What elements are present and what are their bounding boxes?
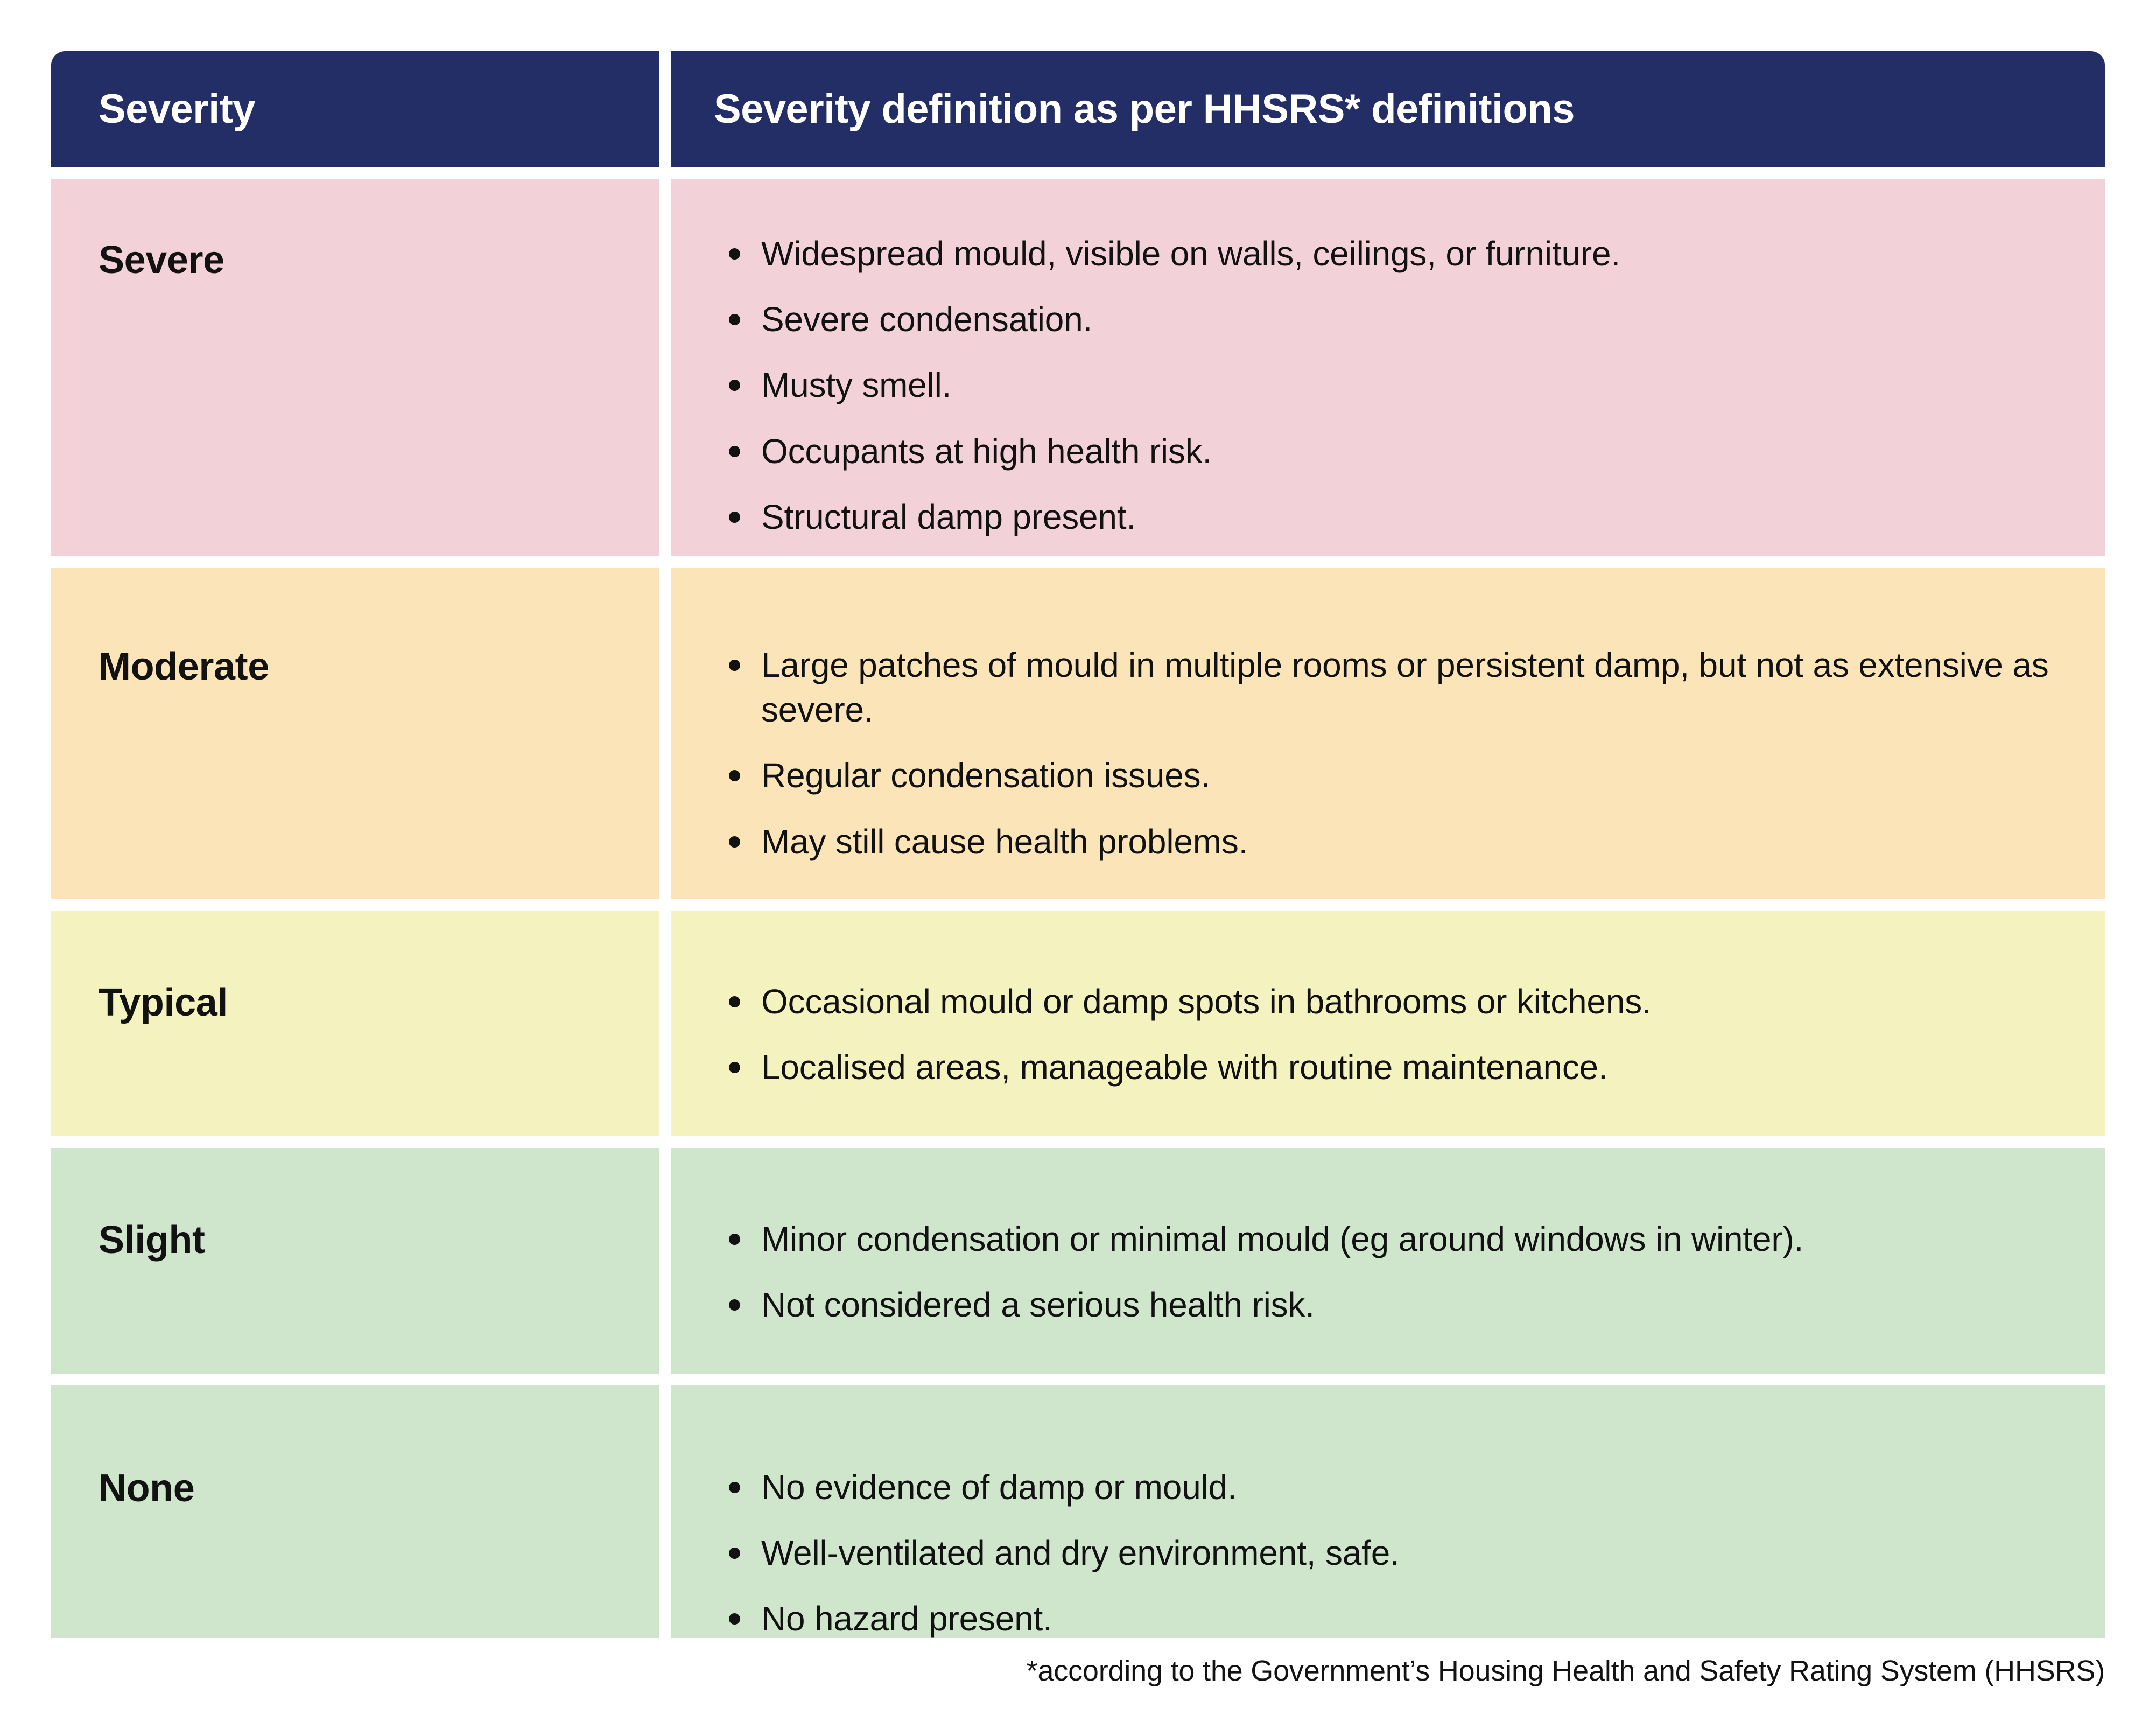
definition-text: Occupants at high health risk.	[761, 429, 2105, 474]
table-row-typical: Typical Occasional mould or damp spots i…	[51, 911, 2105, 1136]
list-item: Regular condensation issues.	[714, 753, 2105, 798]
definition-text: Large patches of mould in multiple rooms…	[761, 643, 2105, 732]
definition-text: Regular condensation issues.	[761, 753, 2105, 798]
table-row-slight: Slight Minor condensation or minimal mou…	[51, 1148, 2105, 1374]
bullet-icon	[729, 1482, 740, 1493]
definition-cell-none: No evidence of damp or mould. Well-venti…	[671, 1385, 2105, 1638]
header-cell-severity: Severity	[51, 51, 659, 167]
severity-label-slight: Slight	[51, 1221, 659, 1259]
list-item: Structural damp present.	[714, 495, 2105, 540]
column-gap	[659, 568, 671, 899]
bullet-icon	[729, 1299, 740, 1311]
definition-text: No evidence of damp or mould.	[761, 1465, 2105, 1510]
column-gap	[659, 179, 671, 556]
list-item: Large patches of mould in multiple rooms…	[714, 643, 2105, 732]
severity-label-severe: Severe	[51, 241, 659, 279]
column-gap	[659, 911, 671, 1136]
list-item: No evidence of damp or mould.	[714, 1465, 2105, 1510]
definition-cell-severe: Widespread mould, visible on walls, ceil…	[671, 179, 2105, 556]
severity-label-typical: Typical	[51, 983, 659, 1022]
list-item: Musty smell.	[714, 363, 2105, 408]
bullet-icon	[729, 512, 740, 523]
severity-cell-typical: Typical	[51, 911, 659, 1136]
footnote-hhsrs: *according to the Government’s Housing H…	[1027, 1654, 2105, 1688]
bullet-icon	[729, 1613, 740, 1625]
severity-cell-none: None	[51, 1385, 659, 1638]
definition-cell-typical: Occasional mould or damp spots in bathro…	[671, 911, 2105, 1136]
list-item: Widespread mould, visible on walls, ceil…	[714, 232, 2105, 276]
bullet-icon	[729, 314, 740, 325]
definition-text: Occasional mould or damp spots in bathro…	[761, 979, 2105, 1024]
definition-list-none: No evidence of damp or mould. Well-venti…	[714, 1465, 2105, 1642]
definition-list-moderate: Large patches of mould in multiple rooms…	[714, 643, 2105, 864]
definition-list-severe: Widespread mould, visible on walls, ceil…	[714, 232, 2105, 540]
table-row-severe: Severe Widespread mould, visible on wall…	[51, 179, 2105, 556]
bullet-icon	[729, 836, 740, 848]
list-item: No hazard present.	[714, 1597, 2105, 1641]
definition-text: May still cause health problems.	[761, 820, 2105, 864]
list-item: Well-ventilated and dry environment, saf…	[714, 1531, 2105, 1576]
bullet-icon	[729, 1548, 740, 1559]
definition-text: No hazard present.	[761, 1597, 2105, 1641]
definition-list-typical: Occasional mould or damp spots in bathro…	[714, 979, 2105, 1090]
severity-label-moderate: Moderate	[51, 647, 659, 686]
bullet-icon	[729, 1062, 740, 1073]
list-item: Not considered a serious health risk.	[714, 1283, 2105, 1327]
definition-text: Not considered a serious health risk.	[761, 1283, 2105, 1327]
table-row-none: None No evidence of damp or mould. Well-…	[51, 1385, 2105, 1638]
table-row-moderate: Moderate Large patches of mould in multi…	[51, 568, 2105, 899]
definition-text: Severe condensation.	[761, 297, 2105, 342]
definition-list-slight: Minor condensation or minimal mould (eg …	[714, 1217, 2105, 1327]
bullet-icon	[729, 1234, 740, 1245]
bullet-icon	[729, 770, 740, 781]
severity-cell-moderate: Moderate	[51, 568, 659, 899]
definition-text: Widespread mould, visible on walls, ceil…	[761, 232, 2105, 276]
severity-label-none: None	[51, 1469, 659, 1508]
header-label-definition: Severity definition as per HHSRS* defini…	[671, 88, 1575, 131]
severity-cell-slight: Slight	[51, 1148, 659, 1374]
definition-text: Musty smell.	[761, 363, 2105, 408]
bullet-icon	[729, 660, 740, 671]
severity-definitions-table: Severity Severity definition as per HHSR…	[51, 51, 2105, 1638]
definition-text: Structural damp present.	[761, 495, 2105, 540]
definition-cell-slight: Minor condensation or minimal mould (eg …	[671, 1148, 2105, 1374]
definition-text: Well-ventilated and dry environment, saf…	[761, 1531, 2105, 1576]
definition-cell-moderate: Large patches of mould in multiple rooms…	[671, 568, 2105, 899]
header-label-severity: Severity	[51, 88, 255, 131]
list-item: May still cause health problems.	[714, 820, 2105, 864]
header-cell-definition: Severity definition as per HHSRS* defini…	[671, 51, 2105, 167]
severity-cell-severe: Severe	[51, 179, 659, 556]
definition-text: Minor condensation or minimal mould (eg …	[761, 1217, 2105, 1262]
list-item: Severe condensation.	[714, 297, 2105, 342]
bullet-icon	[729, 996, 740, 1007]
column-gap	[659, 1385, 671, 1638]
column-gap	[659, 1148, 671, 1374]
list-item: Occupants at high health risk.	[714, 429, 2105, 474]
list-item: Minor condensation or minimal mould (eg …	[714, 1217, 2105, 1262]
list-item: Localised areas, manageable with routine…	[714, 1045, 2105, 1090]
column-gap	[659, 51, 671, 167]
table-header-row: Severity Severity definition as per HHSR…	[51, 51, 2105, 167]
definition-text: Localised areas, manageable with routine…	[761, 1045, 2105, 1090]
bullet-icon	[729, 248, 740, 260]
severity-definitions-page: Severity Severity definition as per HHSR…	[0, 0, 2156, 1729]
list-item: Occasional mould or damp spots in bathro…	[714, 979, 2105, 1024]
bullet-icon	[729, 446, 740, 457]
bullet-icon	[729, 380, 740, 391]
